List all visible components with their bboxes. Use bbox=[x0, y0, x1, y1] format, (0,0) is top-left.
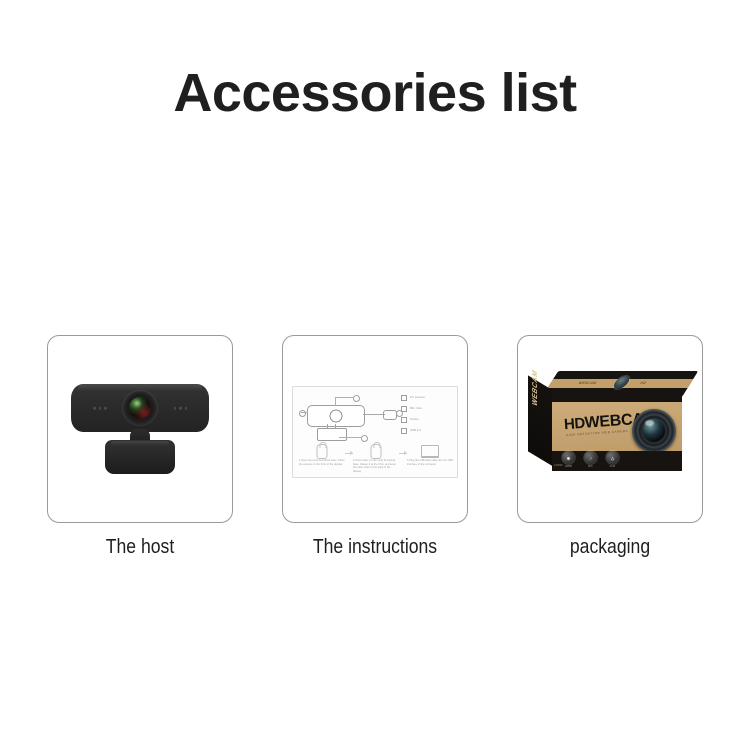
accessories-card-row: PC camera MIC hole Textile USB 2.0 bbox=[47, 335, 703, 523]
webcam-clip-base bbox=[105, 440, 175, 474]
legend-label: PC camera bbox=[410, 397, 425, 400]
instruction-legend: PC camera MIC hole Textile USB 2.0 bbox=[401, 395, 449, 439]
box-feature-badges: ◉ 1080P ♫ MIC △ CLIP bbox=[562, 451, 619, 468]
webcam-body bbox=[71, 384, 209, 432]
step-illustration bbox=[353, 443, 399, 459]
box-front-bottom-label: 1080P bbox=[554, 463, 563, 467]
accessory-card-instructions[interactable]: PC camera MIC hole Textile USB 2.0 bbox=[282, 335, 468, 523]
microphone-dots-right bbox=[174, 407, 188, 410]
legend-marker-icon bbox=[401, 395, 407, 401]
diagram-callout-4 bbox=[361, 435, 368, 442]
instruction-step: 1.Open the multi-functional base. Place … bbox=[299, 443, 345, 473]
badge-icon: ♫ bbox=[584, 451, 597, 464]
accessories-label-row: The host The instructions packaging bbox=[47, 536, 703, 559]
legend-marker-icon bbox=[401, 428, 407, 434]
diagram-leader-top-h bbox=[335, 397, 353, 398]
badge-icon: ◉ bbox=[562, 451, 575, 464]
webcam-lens-glass bbox=[129, 397, 151, 419]
instruction-step: 3.Plug the USB data cable into the USB i… bbox=[407, 443, 453, 473]
badge-label: CLIP bbox=[606, 465, 619, 468]
legend-item: Textile bbox=[401, 417, 449, 423]
badge-label: 1080P bbox=[562, 465, 575, 468]
step-caption: 1.Open the multi-functional base. Place … bbox=[299, 459, 345, 466]
diagram-usb-plug bbox=[383, 410, 397, 420]
box-front-panel: HDWEBCAM HIGH DEFINITION WEB CAMERA ◉ 10… bbox=[552, 393, 682, 471]
instruction-steps: 1.Open the multi-functional base. Place … bbox=[299, 443, 453, 473]
badge-label: MIC bbox=[584, 465, 597, 468]
feature-badge: ◉ 1080P bbox=[562, 451, 575, 468]
legend-marker-icon bbox=[401, 406, 407, 412]
feature-badge: △ CLIP bbox=[606, 451, 619, 468]
badge-glyph: △ bbox=[606, 455, 619, 460]
webcam-lens-ring bbox=[123, 391, 157, 425]
feature-badge: ♫ MIC bbox=[584, 451, 597, 468]
diagram-leader-top bbox=[335, 397, 336, 406]
diagram-callout-1 bbox=[353, 395, 360, 402]
legend-label: Textile bbox=[410, 419, 419, 422]
webcam-illustration bbox=[65, 374, 215, 484]
hand-press-icon bbox=[371, 444, 382, 459]
step-caption: 3.Plug the USB data cable into the USB i… bbox=[407, 459, 453, 466]
diagram-callout-2 bbox=[299, 410, 306, 417]
hand-clip-icon bbox=[317, 444, 328, 459]
instruction-step: 2.Press down on the multi-functional bas… bbox=[353, 443, 399, 473]
card-label-instructions: The instructions bbox=[293, 536, 457, 559]
accessory-card-host[interactable] bbox=[47, 335, 233, 523]
legend-item: MIC hole bbox=[401, 406, 449, 412]
step-illustration bbox=[407, 443, 453, 459]
step-arrow-icon bbox=[345, 453, 353, 454]
box-front-lens-graphic bbox=[632, 409, 676, 453]
badge-glyph: ♫ bbox=[584, 455, 597, 460]
diagram-camera-body bbox=[307, 405, 365, 427]
legend-item: USB 2.0 bbox=[401, 428, 449, 434]
retail-box-illustration: WEBCAM HD WEBCAM HDWEBCAM HIGH DEFINITIO… bbox=[528, 371, 692, 487]
step-arrow-icon bbox=[399, 453, 407, 454]
legend-label: MIC hole bbox=[410, 408, 422, 411]
card-label-packaging: packaging bbox=[528, 536, 692, 559]
step-illustration bbox=[299, 443, 345, 459]
instruction-diagram bbox=[299, 393, 403, 445]
box-front-top-band bbox=[552, 393, 682, 402]
box-top-text-left: WEBCAM bbox=[577, 381, 597, 385]
card-label-host: The host bbox=[58, 536, 222, 559]
legend-item: PC camera bbox=[401, 395, 449, 401]
instruction-sheet: PC camera MIC hole Textile USB 2.0 bbox=[292, 386, 458, 478]
legend-marker-icon bbox=[401, 417, 407, 423]
diagram-lens-icon bbox=[330, 410, 343, 423]
box-title-hd: HD bbox=[563, 415, 585, 433]
badge-icon: △ bbox=[606, 451, 619, 464]
accessory-card-packaging[interactable]: WEBCAM HD WEBCAM HDWEBCAM HIGH DEFINITIO… bbox=[517, 335, 703, 523]
box-side-label: WEBCAM bbox=[532, 368, 539, 407]
badge-glyph: ◉ bbox=[562, 455, 575, 460]
legend-label: USB 2.0 bbox=[410, 430, 421, 433]
box-side-panel: WEBCAM bbox=[528, 375, 554, 467]
diagram-base bbox=[317, 428, 347, 441]
microphone-dots-left bbox=[93, 407, 107, 410]
laptop-icon bbox=[421, 445, 439, 458]
page-title: Accessories list bbox=[0, 66, 750, 120]
diagram-usb-cable bbox=[363, 414, 385, 415]
diagram-leader-bottom bbox=[339, 437, 361, 438]
step-caption: 2.Press down on the multi-functional bas… bbox=[353, 459, 399, 473]
